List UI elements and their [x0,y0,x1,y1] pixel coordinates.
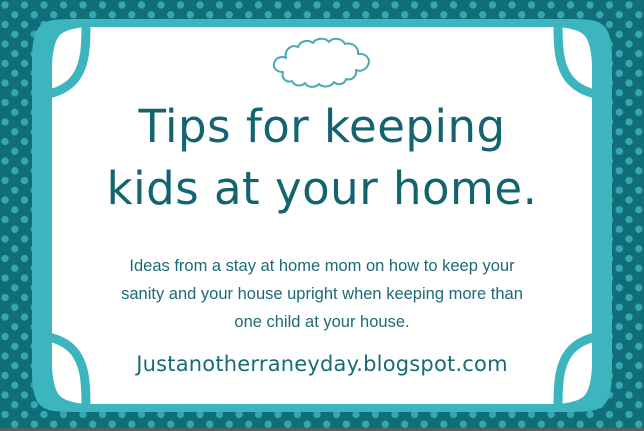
blog-header-poster: Tips for keeping kids at your home. Idea… [0,0,644,431]
frame-white-card [52,27,592,404]
ornate-frame [0,0,644,431]
